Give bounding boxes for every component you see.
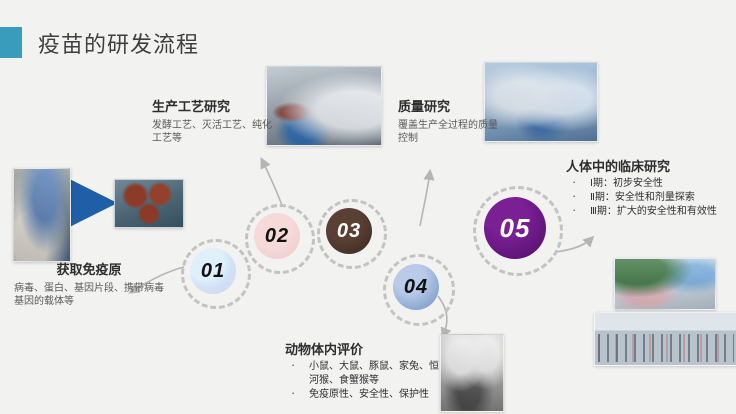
virus-particles-photo <box>114 179 184 228</box>
step-heading-02: 生产工艺研究 <box>152 99 274 115</box>
step-description-01: 病毒、蛋白、基因片段、携带病毒基因的载体等 <box>14 282 164 308</box>
sample-collection-photo <box>13 168 71 262</box>
animal-testing-photo <box>440 334 504 412</box>
list-item: Ⅰ期：初步安全性 <box>566 177 736 191</box>
list-item: Ⅲ期：扩大的安全性和有效性 <box>566 205 736 219</box>
production-lab-photo <box>266 66 382 146</box>
vaccination-photo <box>614 258 716 310</box>
step-block-05: 人体中的临床研究 Ⅰ期：初步安全性 Ⅱ期：安全性和剂量探索 Ⅲ期：扩大的安全性和… <box>566 159 736 219</box>
step-block-04: 动物体内评价 小鼠、大鼠、豚鼠、家兔、恒河猴、食蟹猴等 免疫原性、安全性、保护性 <box>285 342 445 402</box>
list-item: 小鼠、大鼠、豚鼠、家兔、恒河猴、食蟹猴等 <box>285 360 445 388</box>
step-heading-05: 人体中的临床研究 <box>566 159 736 175</box>
step-description-03: 覆盖生产全过程的质量控制 <box>398 119 498 145</box>
step-circle-05[interactable]: 05 <box>484 197 546 259</box>
step-circle-01[interactable]: 01 <box>190 248 236 294</box>
vaccination-hall-photo <box>594 312 736 366</box>
step-bullets-04: 小鼠、大鼠、豚鼠、家兔、恒河猴、食蟹猴等 免疫原性、安全性、保护性 <box>285 360 445 402</box>
list-item: 免疫原性、安全性、保护性 <box>285 388 445 402</box>
step-circle-03[interactable]: 03 <box>326 208 372 254</box>
step-bullets-05: Ⅰ期：初步安全性 Ⅱ期：安全性和剂量探索 Ⅲ期：扩大的安全性和有效性 <box>566 177 736 219</box>
step-circle-02[interactable]: 02 <box>254 213 300 259</box>
page-title: 疫苗的研发流程 <box>38 27 199 59</box>
step-block-03: 质量研究 覆盖生产全过程的质量控制 <box>398 99 498 145</box>
title-accent-bar <box>0 27 22 58</box>
step-block-02: 生产工艺研究 发酵工艺、灭活工艺、纯化工艺等 <box>152 99 274 145</box>
step-block-01: 获取免疫原 病毒、蛋白、基因片段、携带病毒基因的载体等 <box>14 262 164 308</box>
step-description-02: 发酵工艺、灭活工艺、纯化工艺等 <box>152 119 274 145</box>
quality-lab-photo <box>484 62 598 142</box>
slide-canvas: 疫苗的研发流程 01 02 03 04 <box>0 0 736 414</box>
list-item: Ⅱ期：安全性和剂量探索 <box>566 191 736 205</box>
step-heading-01: 获取免疫原 <box>14 262 164 278</box>
step-heading-03: 质量研究 <box>398 99 498 115</box>
step-circle-04[interactable]: 04 <box>393 264 439 310</box>
step-heading-04: 动物体内评价 <box>285 342 445 358</box>
